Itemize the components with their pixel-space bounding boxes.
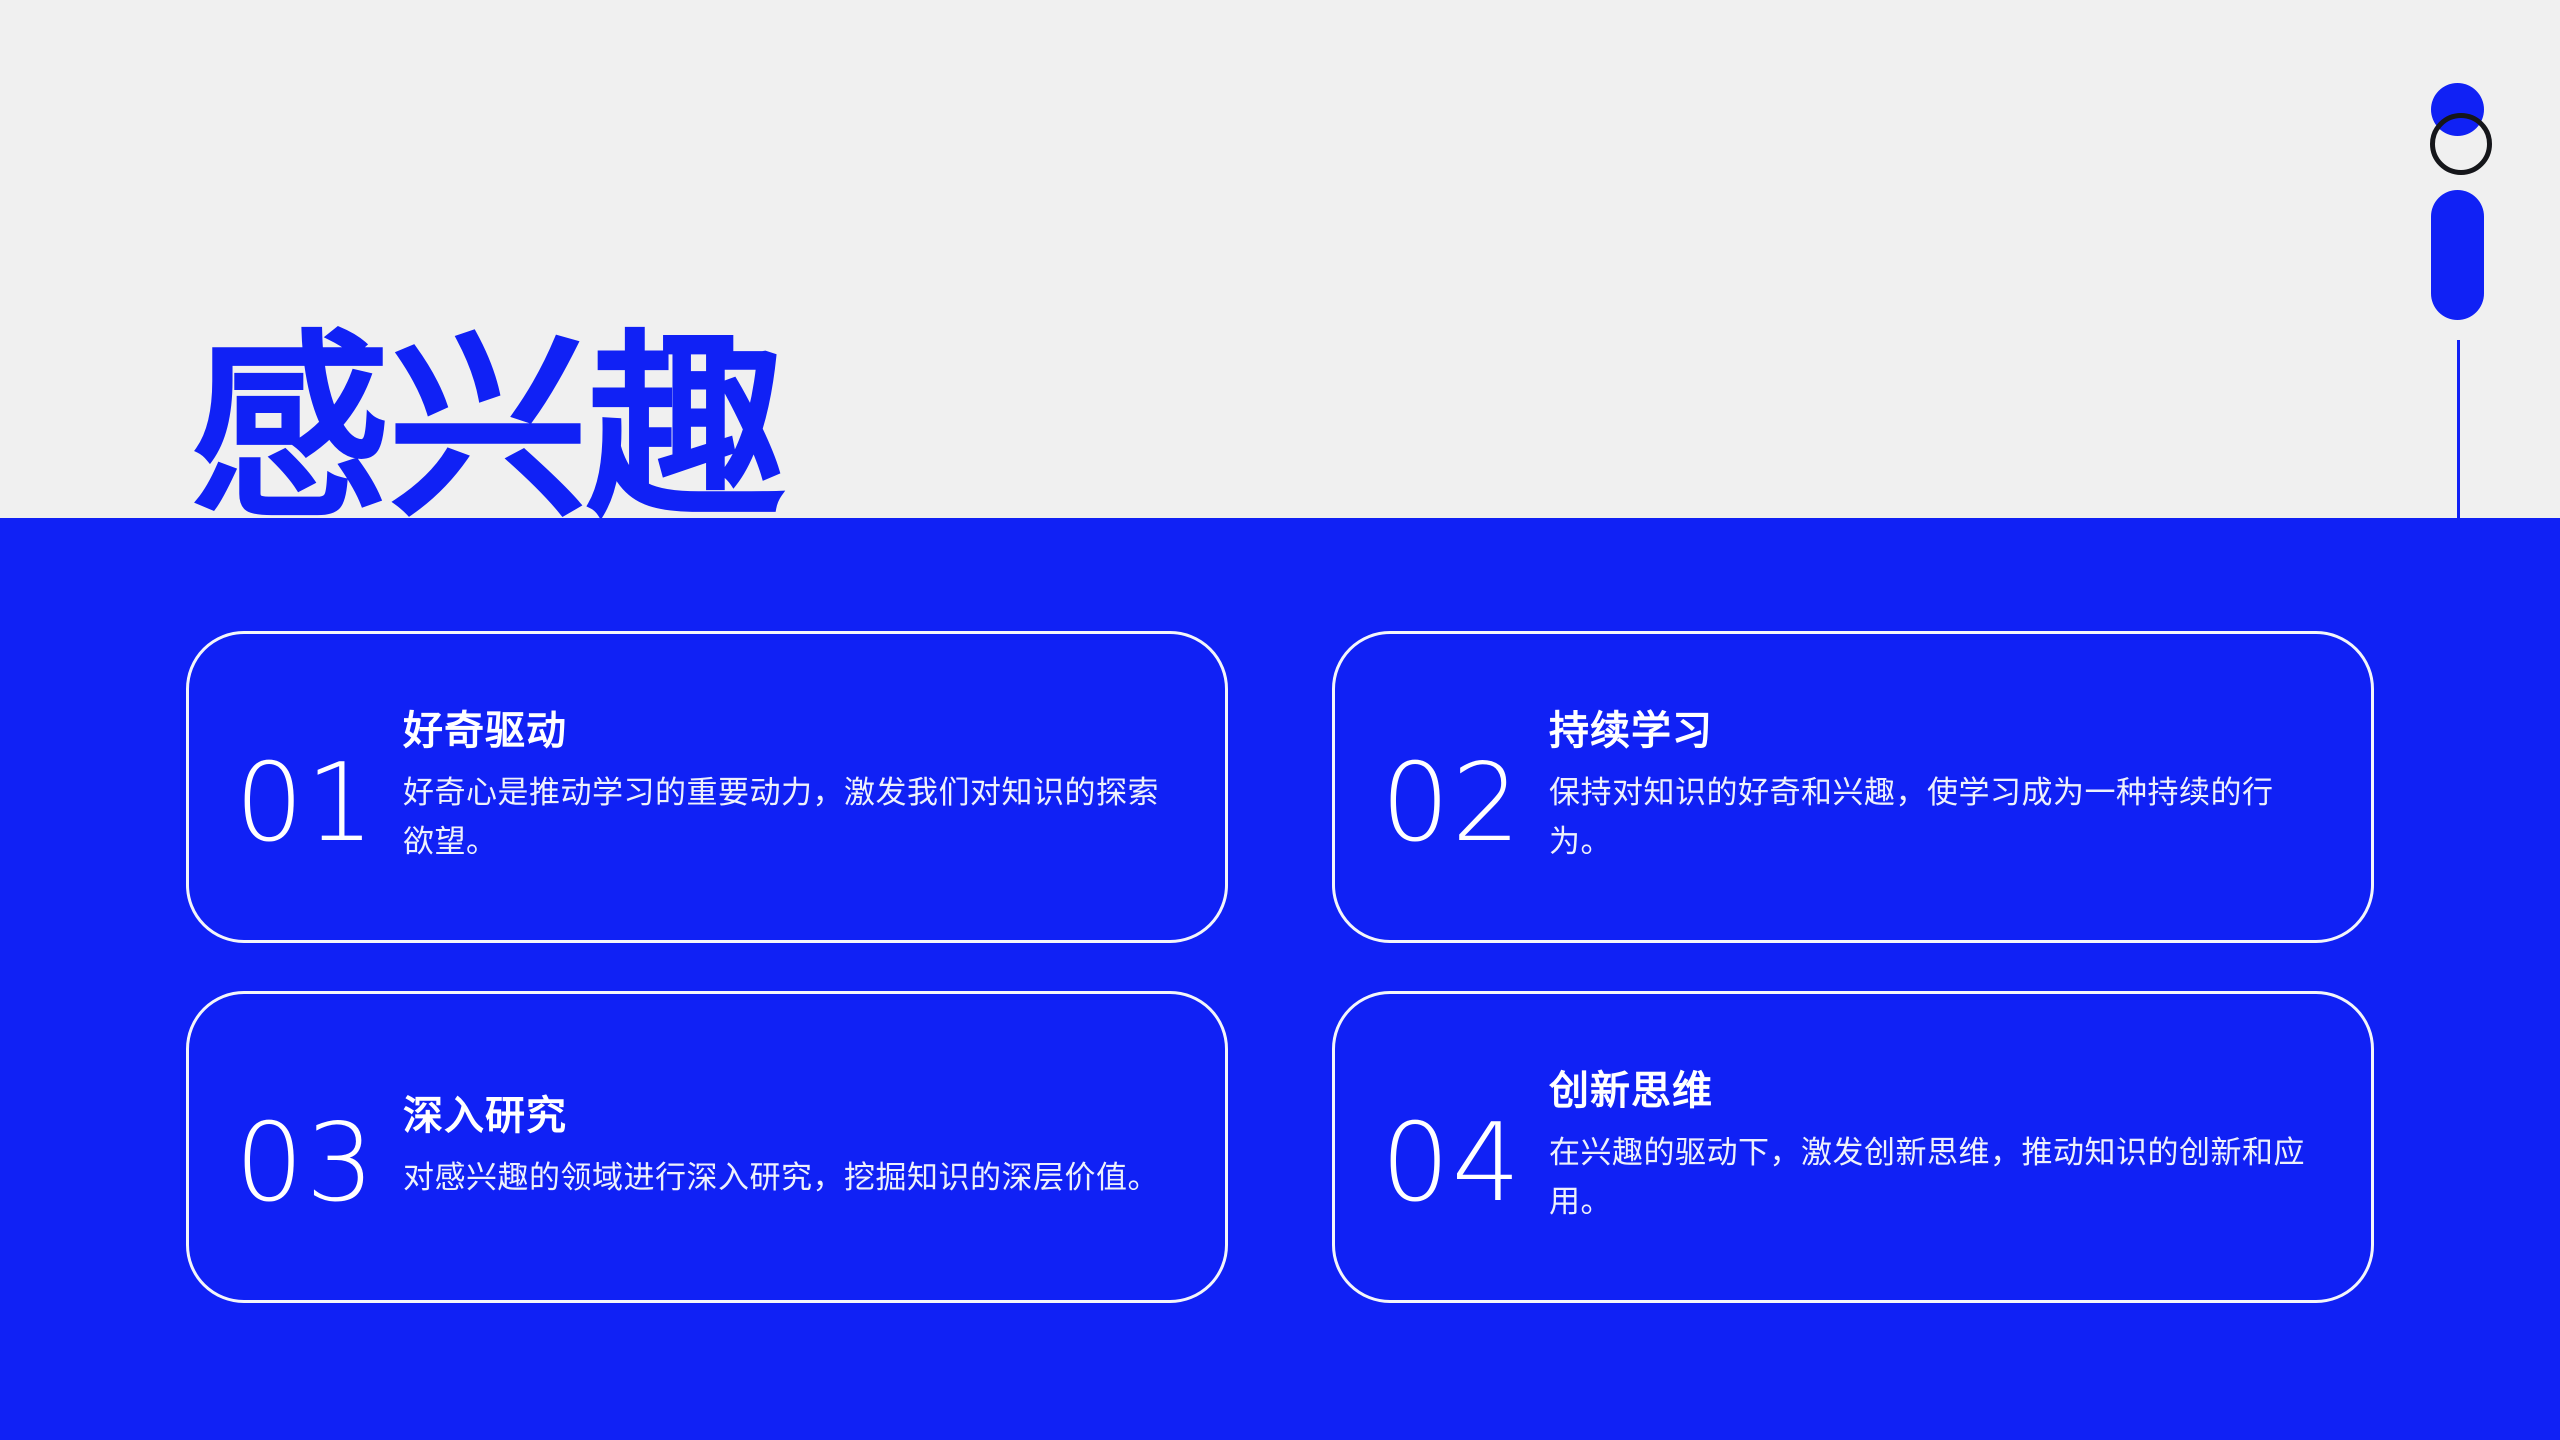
card-title: 好奇驱动 xyxy=(403,707,1189,755)
feature-card-02[interactable]: 02 持续学习 保持对知识的好奇和兴趣，使学习成为一种持续的行为。 xyxy=(1332,631,2374,943)
card-title: 持续学习 xyxy=(1549,707,2335,755)
card-number: 02 xyxy=(1381,750,1549,858)
decoration-group xyxy=(2410,40,2530,530)
card-description: 在兴趣的驱动下，激发创新思维，推动知识的创新和应用。 xyxy=(1549,1129,2335,1227)
feature-card-grid: 01 好奇驱动 好奇心是推动学习的重要动力，激发我们对知识的探索欲望。 02 持… xyxy=(186,631,2374,1303)
card-body: 好奇驱动 好奇心是推动学习的重要动力，激发我们对知识的探索欲望。 xyxy=(403,707,1197,867)
vertical-line-icon xyxy=(2457,340,2460,558)
feature-card-03[interactable]: 03 深入研究 对感兴趣的领域进行深入研究，挖掘知识的深层价值。 xyxy=(186,991,1228,1303)
capsule-icon xyxy=(2431,190,2484,320)
card-number: 03 xyxy=(235,1110,403,1218)
page-title: 感兴趣 xyxy=(190,330,784,518)
circle-outline-icon xyxy=(2430,113,2492,175)
card-number: 01 xyxy=(235,750,403,858)
card-title: 深入研究 xyxy=(403,1092,1189,1140)
card-body: 深入研究 对感兴趣的领域进行深入研究，挖掘知识的深层价值。 xyxy=(403,1092,1197,1203)
slide-canvas: 感兴趣 01 好奇驱动 好奇心是推动学习的重要动力，激发我们对知识的探索欲望。 … xyxy=(0,0,2560,1440)
card-description: 对感兴趣的领域进行深入研究，挖掘知识的深层价值。 xyxy=(403,1154,1189,1203)
card-body: 创新思维 在兴趣的驱动下，激发创新思维，推动知识的创新和应用。 xyxy=(1549,1067,2343,1227)
card-description: 好奇心是推动学习的重要动力，激发我们对知识的探索欲望。 xyxy=(403,769,1189,867)
card-body: 持续学习 保持对知识的好奇和兴趣，使学习成为一种持续的行为。 xyxy=(1549,707,2343,867)
feature-card-01[interactable]: 01 好奇驱动 好奇心是推动学习的重要动力，激发我们对知识的探索欲望。 xyxy=(186,631,1228,943)
feature-card-04[interactable]: 04 创新思维 在兴趣的驱动下，激发创新思维，推动知识的创新和应用。 xyxy=(1332,991,2374,1303)
page-title-container: 感兴趣 xyxy=(0,0,2560,518)
card-number: 04 xyxy=(1381,1110,1549,1218)
card-title: 创新思维 xyxy=(1549,1067,2335,1115)
card-description: 保持对知识的好奇和兴趣，使学习成为一种持续的行为。 xyxy=(1549,769,2335,867)
